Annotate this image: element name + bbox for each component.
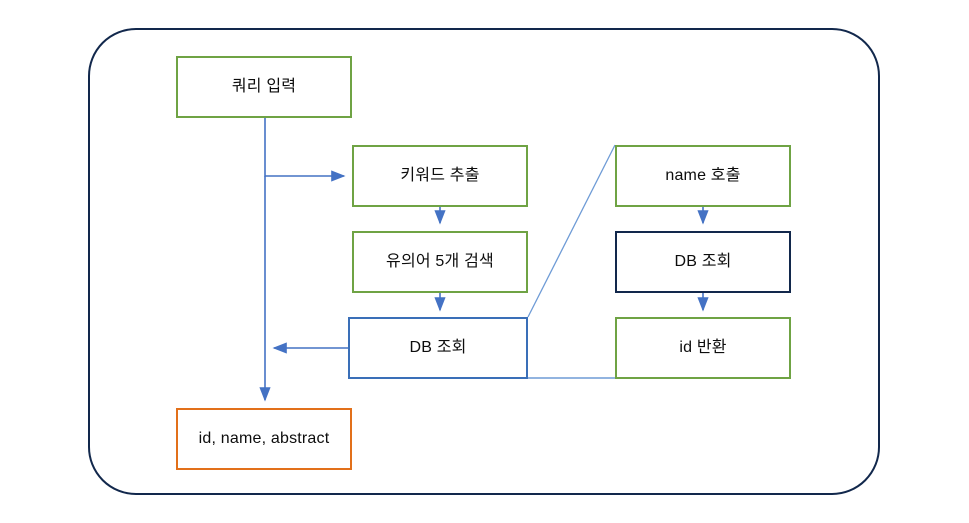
diagram-canvas: 쿼리 입력 키워드 추출 유의어 5개 검색 DB 조회 name 호출 DB … xyxy=(0,0,969,523)
node-synonym-search-label: 유의어 5개 검색 xyxy=(380,252,500,271)
node-name-call[interactable]: name 호출 xyxy=(615,145,791,207)
node-db-lookup-left[interactable]: DB 조회 xyxy=(348,317,528,379)
node-id-return-label: id 반환 xyxy=(673,338,732,357)
node-query-input-label: 쿼리 입력 xyxy=(226,77,302,96)
node-result-fields[interactable]: id, name, abstract xyxy=(176,408,352,470)
node-db-lookup-right-label: DB 조회 xyxy=(668,252,737,271)
node-result-fields-label: id, name, abstract xyxy=(193,429,336,448)
node-name-call-label: name 호출 xyxy=(659,166,746,185)
node-db-lookup-right[interactable]: DB 조회 xyxy=(615,231,791,293)
node-keyword-extract[interactable]: 키워드 추출 xyxy=(352,145,528,207)
node-keyword-extract-label: 키워드 추출 xyxy=(394,166,485,185)
node-synonym-search[interactable]: 유의어 5개 검색 xyxy=(352,231,528,293)
node-db-lookup-left-label: DB 조회 xyxy=(403,338,472,357)
node-id-return[interactable]: id 반환 xyxy=(615,317,791,379)
node-query-input[interactable]: 쿼리 입력 xyxy=(176,56,352,118)
